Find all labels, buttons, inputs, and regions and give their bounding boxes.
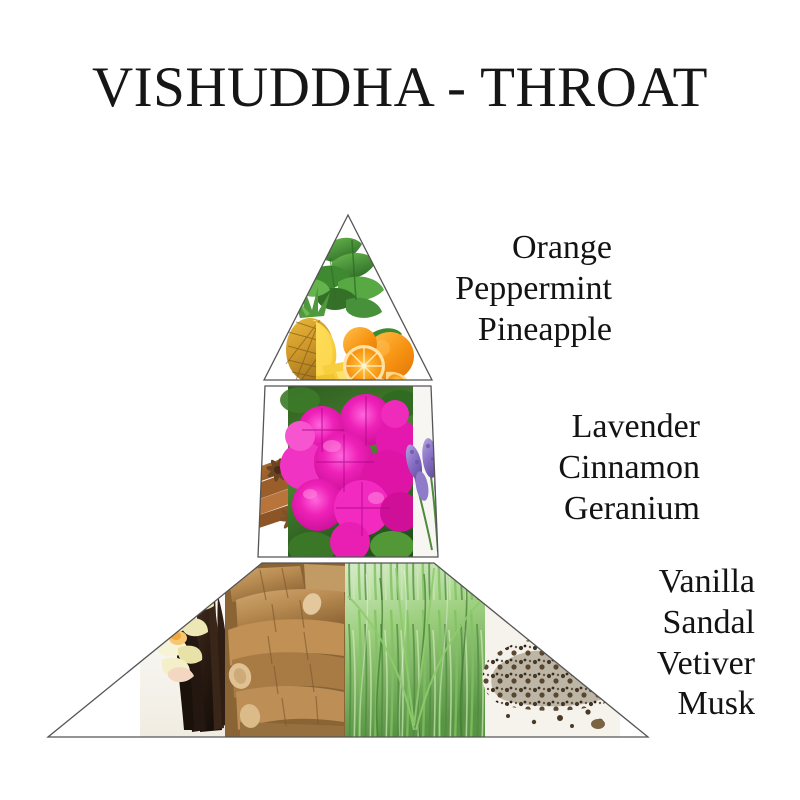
geranium-flower-image [280,386,420,564]
pyramid-tier-middle [250,380,474,565]
sandalwood-logs-image [225,563,346,740]
vetiver-grass-image [345,563,485,740]
middle-note-2: Cinnamon [558,448,700,489]
top-note-2: Peppermint [455,269,612,310]
middle-note-3: Geranium [558,489,700,530]
base-notes-label: Vanilla Sandal Vetiver Musk [657,562,755,725]
top-notes-label: Orange Peppermint Pineapple [455,228,612,350]
pyramid-tier-base [40,560,660,740]
lavender-bunch-image [403,386,475,561]
base-note-4: Musk [657,684,755,725]
top-note-1: Orange [455,228,612,269]
top-note-3: Pineapple [455,310,612,351]
musk-image [483,563,630,738]
middle-note-1: Lavender [558,407,700,448]
pyramid-tier-top [255,205,445,390]
base-note-3: Vetiver [657,644,755,685]
oranges-image [343,327,414,388]
middle-notes-label: Lavender Cinnamon Geranium [558,407,700,529]
base-note-1: Vanilla [657,562,755,603]
base-note-2: Sandal [657,603,755,644]
